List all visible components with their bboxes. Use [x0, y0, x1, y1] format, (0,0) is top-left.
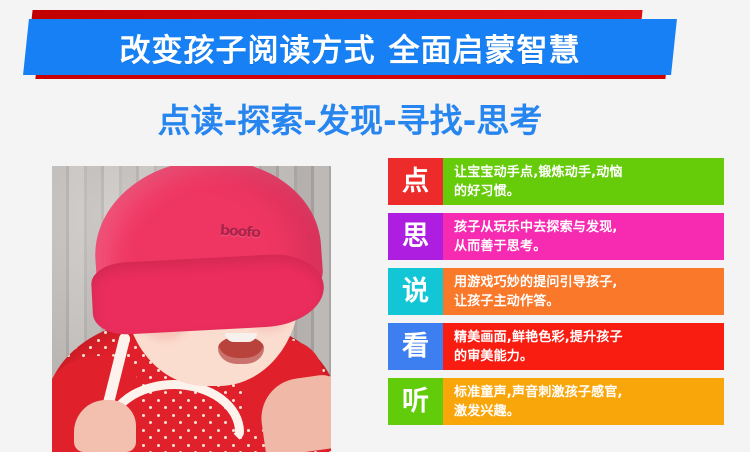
feature-line-1: 精美画面,鲜艳色彩,提升孩子 — [454, 328, 717, 347]
feature-line-1: 用游戏巧妙的提问引导孩子, — [454, 273, 717, 292]
feature-line-2: 从而善于思考。 — [454, 237, 717, 256]
hat-logo-text: boofo — [219, 223, 260, 242]
list-item: 思 孩子从玩乐中去探索与发现, 从而善于思考。 — [388, 213, 724, 260]
feature-description: 用游戏巧妙的提问引导孩子, 让孩子主动作答。 — [443, 268, 724, 315]
feature-line-2: 让孩子主动作答。 — [454, 292, 717, 311]
list-item: 听 标准童声,声音刺激孩子感官, 激发兴趣。 — [388, 378, 724, 425]
feature-line-2: 的好习惯。 — [454, 182, 717, 201]
feature-description: 精美画面,鲜艳色彩,提升孩子 的审美能力。 — [443, 323, 724, 370]
banner-title-part1: 改变孩子阅读方式 — [120, 25, 376, 70]
feature-line-1: 标准童声,声音刺激孩子感官, — [454, 383, 717, 402]
banner-title-part2: 全面启蒙智慧 — [389, 25, 581, 70]
feature-badge: 看 — [388, 323, 443, 370]
list-item: 说 用游戏巧妙的提问引导孩子, 让孩子主动作答。 — [388, 268, 724, 315]
feature-line-1: 让宝宝动手点,锻炼动手,动恼 — [454, 163, 717, 182]
list-item: 看 精美画面,鲜艳色彩,提升孩子 的审美能力。 — [388, 323, 724, 370]
feature-badge: 听 — [388, 378, 443, 425]
feature-description: 标准童声,声音刺激孩子感官, 激发兴趣。 — [443, 378, 724, 425]
feature-badge: 点 — [388, 158, 443, 205]
baby-mouth — [218, 336, 264, 364]
list-item: 点 让宝宝动手点,锻炼动手,动恼 的好习惯。 — [388, 158, 724, 205]
feature-list: 点 让宝宝动手点,锻炼动手,动恼 的好习惯。 思 孩子从玩乐中去探索与发现, 从… — [388, 158, 724, 433]
feature-description: 让宝宝动手点,锻炼动手,动恼 的好习惯。 — [443, 158, 724, 205]
feature-line-2: 激发兴趣。 — [454, 402, 717, 421]
feature-line-1: 孩子从玩乐中去探索与发现, — [454, 218, 717, 237]
banner-title: 改变孩子阅读方式 全面启蒙智慧 — [0, 19, 700, 75]
feature-badge: 思 — [388, 213, 443, 260]
feature-badge: 说 — [388, 268, 443, 315]
header-banner: 改变孩子阅读方式 全面启蒙智慧 — [0, 0, 750, 86]
page-subtitle: 点读-探索-发现-寻找-思考 — [0, 94, 700, 142]
feature-description: 孩子从玩乐中去探索与发现, 从而善于思考。 — [443, 213, 724, 260]
baby-photo: boofo — [52, 166, 331, 452]
baby-hand — [74, 400, 136, 452]
feature-line-2: 的审美能力。 — [454, 347, 717, 366]
